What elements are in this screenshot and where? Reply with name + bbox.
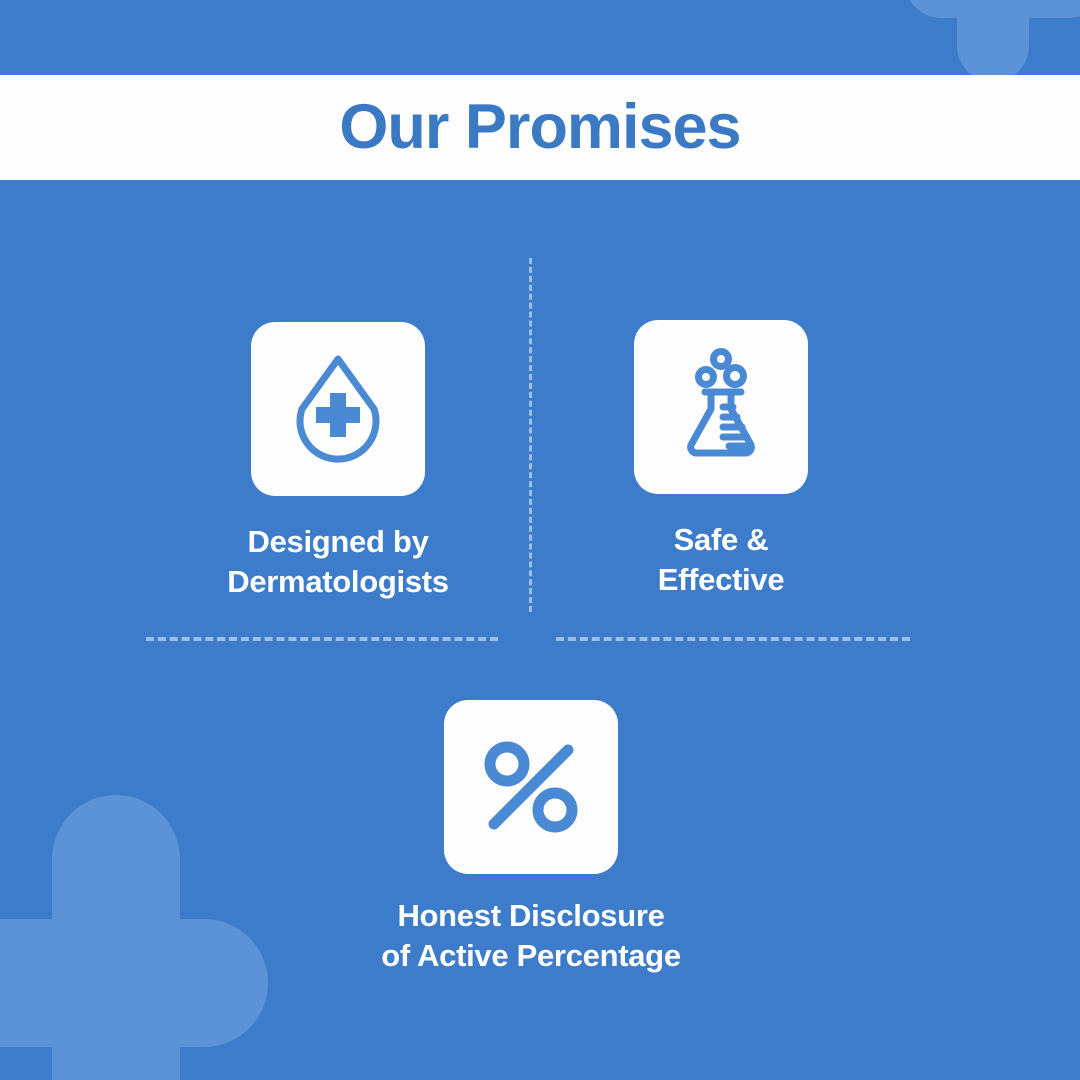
promises-graphic: Our Promises Designed by Dermatologists <box>0 0 1080 1080</box>
promise-item-designed-by-dermatologists: Designed by Dermatologists <box>178 322 498 601</box>
promise-label: Honest Disclosure of Active Percentage <box>381 896 681 975</box>
icon-card <box>251 322 425 496</box>
cross-bottom-left-decoration <box>0 795 268 1080</box>
promise-item-safe-and-effective: Safe & Effective <box>561 320 881 599</box>
cross-top-right-decoration <box>905 0 1080 82</box>
icon-card <box>634 320 808 494</box>
divider-h-left <box>146 637 498 641</box>
page-title: Our Promises <box>339 96 740 159</box>
promise-item-honest-disclosure: Honest Disclosure of Active Percentage <box>371 700 691 975</box>
lab-flask-bubbles-icon <box>661 347 781 467</box>
promise-label: Designed by Dermatologists <box>227 522 448 601</box>
divider-vertical <box>529 258 532 612</box>
divider-h-right <box>556 637 910 641</box>
cross-horizontal-bar <box>0 919 268 1047</box>
icon-card <box>444 700 618 874</box>
water-drop-plus-icon <box>278 349 398 469</box>
percent-icon <box>476 732 586 842</box>
cross-horizontal-bar <box>905 0 1080 18</box>
promise-label: Safe & Effective <box>658 520 785 599</box>
header-banner: Our Promises <box>0 75 1080 180</box>
